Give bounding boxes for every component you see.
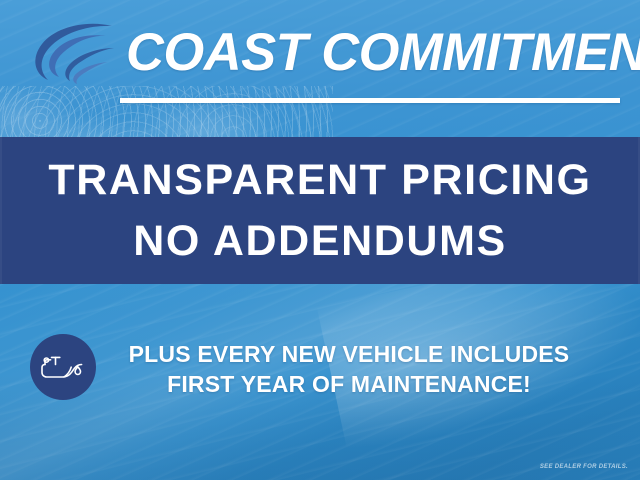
maintenance-offer: PLUS EVERY NEW VEHICLE INCLUDES FIRST YE…: [0, 330, 640, 408]
header: COAST COMMITMENT: [0, 0, 640, 137]
page-title: COAST COMMITMENT: [126, 21, 621, 83]
maintenance-line-2: FIRST YEAR OF MAINTENANCE!: [167, 369, 531, 399]
pricing-headline-primary: TRANSPARENT PRICING: [48, 159, 591, 202]
coast-commitment-banner: COAST COMMITMENT TRANSPARENT PRICING NO …: [0, 0, 640, 480]
maintenance-line-1: PLUS EVERY NEW VEHICLE INCLUDES: [129, 339, 570, 369]
maintenance-text-block: PLUS EVERY NEW VEHICLE INCLUDES FIRST YE…: [110, 330, 588, 408]
oil-can-icon: [30, 334, 96, 400]
disclaimer-text: SEE DEALER FOR DETAILS.: [540, 464, 628, 470]
pricing-headline-secondary: NO ADDENDUMS: [133, 220, 507, 263]
pricing-banner: TRANSPARENT PRICING NO ADDENDUMS: [0, 137, 640, 284]
coast-wave-swirl-icon: [28, 18, 124, 88]
title-divider: [120, 98, 620, 103]
